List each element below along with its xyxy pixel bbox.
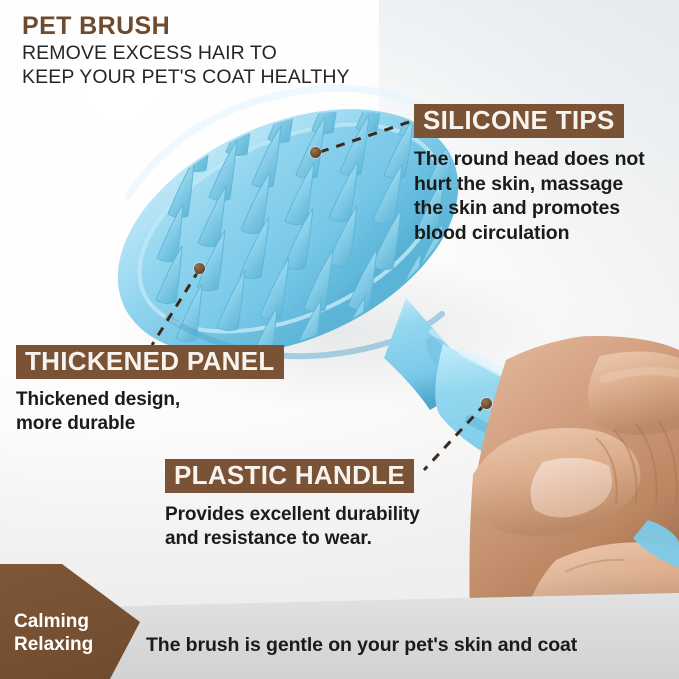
callout-badge-silicone-tips: SILICONE TIPS <box>414 104 624 138</box>
bottom-caption-text: The brush is gentle on your pet's skin a… <box>146 634 666 657</box>
callout-silicone-tips: SILICONE TIPS The round head does not hu… <box>414 104 676 245</box>
corner-banner-text: Calming Relaxing <box>14 611 93 657</box>
callout-body-silicone-tips: The round head does not hurt the skin, m… <box>414 147 676 245</box>
callout-thickened-panel: THICKENED PANEL Thickened design, more d… <box>16 345 336 436</box>
callout-plastic-handle: PLASTIC HANDLE Provides excellent durabi… <box>165 459 485 551</box>
callout-badge-plastic-handle: PLASTIC HANDLE <box>165 459 414 493</box>
header-block: PET BRUSH REMOVE EXCESS HAIR TO KEEP YOU… <box>22 12 350 90</box>
page-subtitle: REMOVE EXCESS HAIR TO KEEP YOUR PET'S CO… <box>22 42 350 90</box>
infographic-canvas: FAOTUR <box>0 0 679 679</box>
callout-badge-thickened-panel: THICKENED PANEL <box>16 345 284 379</box>
callout-body-thickened-panel: Thickened design, more durable <box>16 388 336 436</box>
product-photo-brush: FAOTUR <box>0 0 679 679</box>
page-title: PET BRUSH <box>22 12 350 40</box>
callout-body-plastic-handle: Provides excellent durability and resist… <box>165 503 485 551</box>
